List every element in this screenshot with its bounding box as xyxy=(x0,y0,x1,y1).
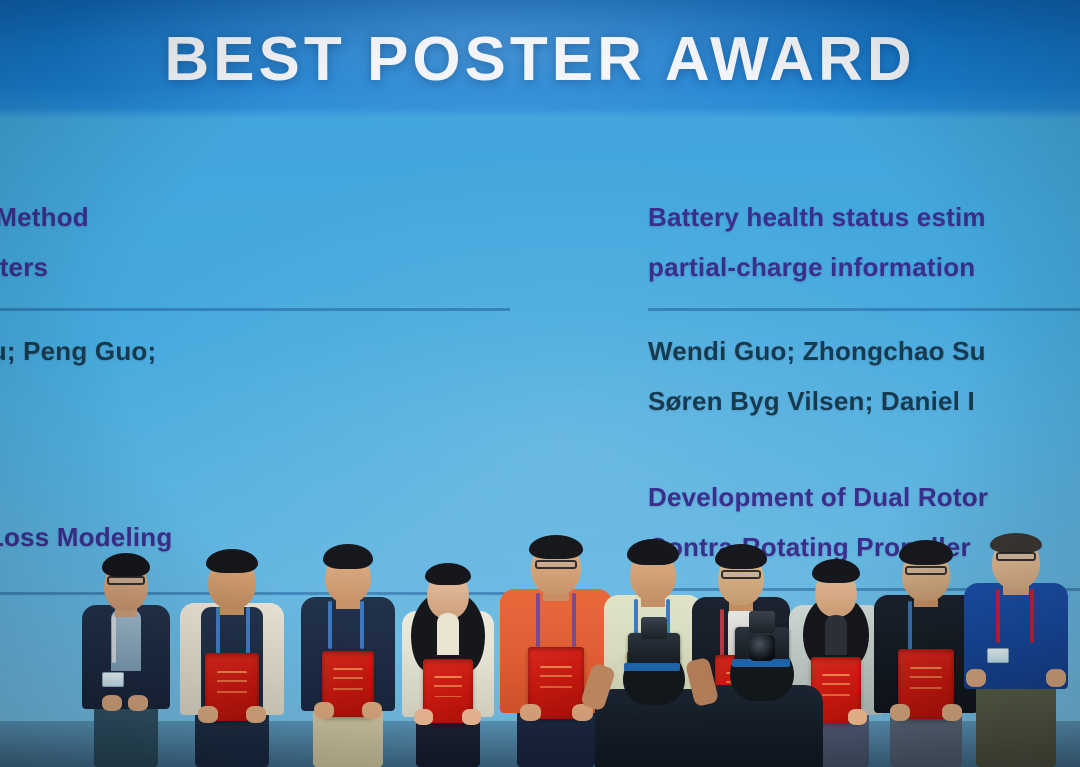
paper-title-line: Optimization Method xyxy=(0,192,89,242)
hair xyxy=(425,563,471,585)
hand xyxy=(942,704,962,721)
hand xyxy=(102,695,122,711)
glasses-icon xyxy=(107,576,145,585)
entry-divider xyxy=(0,308,510,311)
hand xyxy=(246,706,266,723)
lanyard xyxy=(246,607,250,655)
lanyard xyxy=(112,615,116,663)
hand xyxy=(848,709,867,725)
entry-divider xyxy=(648,308,1080,311)
camera-flash xyxy=(641,617,667,639)
screenshot-root: BEST POSTER AWARD Optimization Method e-… xyxy=(0,0,1080,767)
badge xyxy=(102,672,124,687)
hand xyxy=(1046,669,1066,687)
lanyard xyxy=(572,593,576,647)
author-line: ; Qianming Xu; Peng Guo; xyxy=(0,326,156,376)
hair xyxy=(715,544,767,569)
lanyard xyxy=(908,601,912,651)
award-entry-right-top: Battery health status estim partial-char… xyxy=(648,192,986,292)
author-line: Wendi Guo; Zhongchao Su xyxy=(648,326,986,376)
award-authors-right-top: Wendi Guo; Zhongchao Su Søren Byg Vilsen… xyxy=(648,326,986,426)
hand xyxy=(520,704,541,721)
author-line: hang Kong xyxy=(0,376,156,426)
lanyard xyxy=(360,601,364,649)
lanyard xyxy=(536,593,540,647)
glasses-icon xyxy=(905,566,947,575)
hair xyxy=(102,553,150,577)
camera-strap xyxy=(624,663,680,671)
camera-lens xyxy=(749,635,775,661)
lanyard xyxy=(1030,589,1034,643)
lanyard xyxy=(996,589,1000,643)
hair xyxy=(627,539,679,565)
hand xyxy=(414,709,433,725)
glasses-icon xyxy=(721,570,761,579)
glasses-icon xyxy=(996,552,1036,561)
person-recipient-3 xyxy=(296,541,400,767)
paper-title-line: Battery health status estim xyxy=(648,192,986,242)
person-photographer-2 xyxy=(700,623,824,767)
hand xyxy=(462,709,481,725)
blouse xyxy=(437,613,459,655)
paper-title-line: Development of Dual Rotor xyxy=(648,472,988,522)
hair xyxy=(990,533,1042,553)
hand xyxy=(128,695,148,711)
author-line: Søren Byg Vilsen; Daniel I xyxy=(648,376,986,426)
legs xyxy=(976,681,1056,767)
paper-title-line: partial-charge information xyxy=(648,242,986,292)
person-organizer xyxy=(960,535,1072,767)
award-authors-left-top: ; Qianming Xu; Peng Guo; hang Kong xyxy=(0,326,156,426)
hand xyxy=(314,702,334,719)
person-recipient-2 xyxy=(176,549,288,767)
inner-top xyxy=(825,615,847,655)
glasses-icon xyxy=(535,560,577,569)
hair xyxy=(529,535,583,559)
camera-flash xyxy=(749,611,775,633)
badge xyxy=(987,648,1009,663)
person-recipient-1 xyxy=(78,555,174,767)
hair xyxy=(899,540,953,565)
hand xyxy=(890,704,910,721)
hand xyxy=(198,706,218,723)
hand xyxy=(966,669,986,687)
hand xyxy=(362,702,382,719)
person-recipient-4 xyxy=(396,559,500,767)
lanyard xyxy=(328,601,332,649)
hair xyxy=(206,549,258,573)
paper-title-line: e-Phase Inverters xyxy=(0,242,89,292)
hair xyxy=(812,559,860,583)
hair xyxy=(323,544,373,569)
page-title: BEST POSTER AWARD xyxy=(0,24,1080,95)
award-entry-left-top: Optimization Method e-Phase Inverters xyxy=(0,192,89,292)
